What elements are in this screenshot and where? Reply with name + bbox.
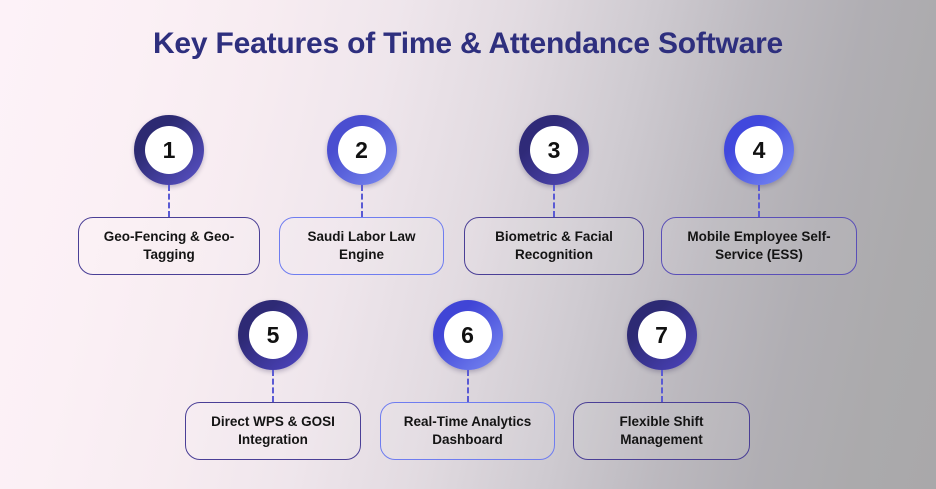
step-badge-1[interactable]: 1 <box>134 115 204 185</box>
step-badge-6[interactable]: 6 <box>433 300 503 370</box>
step-number-1: 1 <box>145 126 193 174</box>
feature-card-2[interactable]: Saudi Labor Law Engine <box>279 217 444 275</box>
feature-card-label-7: Flexible Shift Management <box>584 413 739 449</box>
step-number-6: 6 <box>444 311 492 359</box>
connector-line-7 <box>661 370 663 402</box>
connector-line-4 <box>758 185 760 217</box>
feature-card-7[interactable]: Flexible Shift Management <box>573 402 750 460</box>
feature-card-5[interactable]: Direct WPS & GOSI Integration <box>185 402 361 460</box>
feature-card-label-3: Biometric & Facial Recognition <box>475 228 633 264</box>
connector-line-1 <box>168 185 170 217</box>
feature-card-3[interactable]: Biometric & Facial Recognition <box>464 217 644 275</box>
feature-card-label-5: Direct WPS & GOSI Integration <box>196 413 350 449</box>
connector-line-2 <box>361 185 363 217</box>
feature-card-label-6: Real-Time Analytics Dashboard <box>391 413 544 449</box>
step-badge-5[interactable]: 5 <box>238 300 308 370</box>
step-number-3: 3 <box>530 126 578 174</box>
infographic-canvas: Key Features of Time & Attendance Softwa… <box>0 0 936 489</box>
step-badge-ring-4: 4 <box>724 115 794 185</box>
feature-card-label-1: Geo-Fencing & Geo-Tagging <box>89 228 249 264</box>
step-badge-ring-7: 7 <box>627 300 697 370</box>
connector-line-5 <box>272 370 274 402</box>
step-badge-ring-6: 6 <box>433 300 503 370</box>
connector-line-3 <box>553 185 555 217</box>
step-badge-ring-5: 5 <box>238 300 308 370</box>
step-badge-7[interactable]: 7 <box>627 300 697 370</box>
step-badge-2[interactable]: 2 <box>327 115 397 185</box>
step-number-2: 2 <box>338 126 386 174</box>
step-number-5: 5 <box>249 311 297 359</box>
feature-card-label-4: Mobile Employee Self-Service (ESS) <box>672 228 846 264</box>
step-badge-3[interactable]: 3 <box>519 115 589 185</box>
page-title: Key Features of Time & Attendance Softwa… <box>0 27 936 61</box>
step-number-4: 4 <box>735 126 783 174</box>
feature-card-label-2: Saudi Labor Law Engine <box>290 228 433 264</box>
step-badge-ring-2: 2 <box>327 115 397 185</box>
step-badge-ring-1: 1 <box>134 115 204 185</box>
feature-card-6[interactable]: Real-Time Analytics Dashboard <box>380 402 555 460</box>
step-badge-4[interactable]: 4 <box>724 115 794 185</box>
step-number-7: 7 <box>638 311 686 359</box>
connector-line-6 <box>467 370 469 402</box>
feature-card-4[interactable]: Mobile Employee Self-Service (ESS) <box>661 217 857 275</box>
feature-card-1[interactable]: Geo-Fencing & Geo-Tagging <box>78 217 260 275</box>
step-badge-ring-3: 3 <box>519 115 589 185</box>
